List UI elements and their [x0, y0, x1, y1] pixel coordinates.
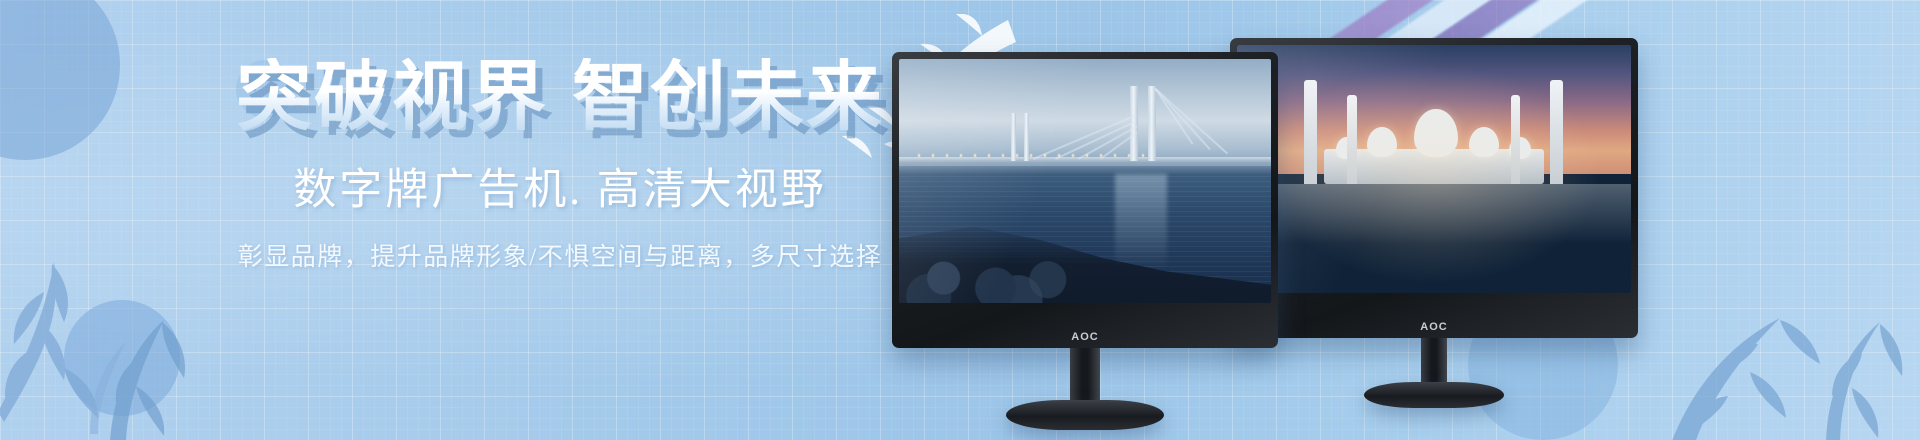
monitor-stand-neck: [1421, 338, 1447, 384]
monitor-screen: [1237, 45, 1631, 293]
monitor-screen: [899, 59, 1271, 303]
product-monitor-front: AOC: [892, 52, 1278, 348]
monitor-stand-neck: [1070, 348, 1100, 404]
monitor-bezel: AOC: [1230, 38, 1638, 338]
decor-circle-bottom-left: [64, 300, 180, 416]
mosque-photo: [1237, 45, 1631, 293]
headline-part-2: 智创未来: [572, 55, 884, 140]
monitor-brand-label: AOC: [892, 331, 1278, 343]
fern-leaf-icon: [1640, 196, 1910, 440]
tagline: 彰显品牌，提升品牌形象/不惧空间与距离，多尺寸选择: [200, 237, 920, 273]
decor-circle-top-left: [0, 0, 120, 160]
monitor-brand-label: AOC: [1230, 321, 1638, 333]
bridge-photo: [899, 59, 1271, 303]
monitor-stand-base: [1364, 382, 1504, 408]
monitor-stand-base: [1006, 400, 1164, 430]
subtitle: 数字牌广告机. 高清大视野: [200, 155, 920, 217]
headline-part-1: 突破视界: [236, 55, 548, 140]
product-monitor-back: AOC: [1230, 38, 1638, 338]
promo-banner: 突破视界智创未来 数字牌广告机. 高清大视野 彰显品牌，提升品牌形象/不惧空间与…: [0, 0, 1920, 440]
monitor-bezel: AOC: [892, 52, 1278, 348]
page-title: 突破视界智创未来: [200, 58, 920, 137]
copy-block: 突破视界智创未来 数字牌广告机. 高清大视野 彰显品牌，提升品牌形象/不惧空间与…: [200, 58, 920, 273]
